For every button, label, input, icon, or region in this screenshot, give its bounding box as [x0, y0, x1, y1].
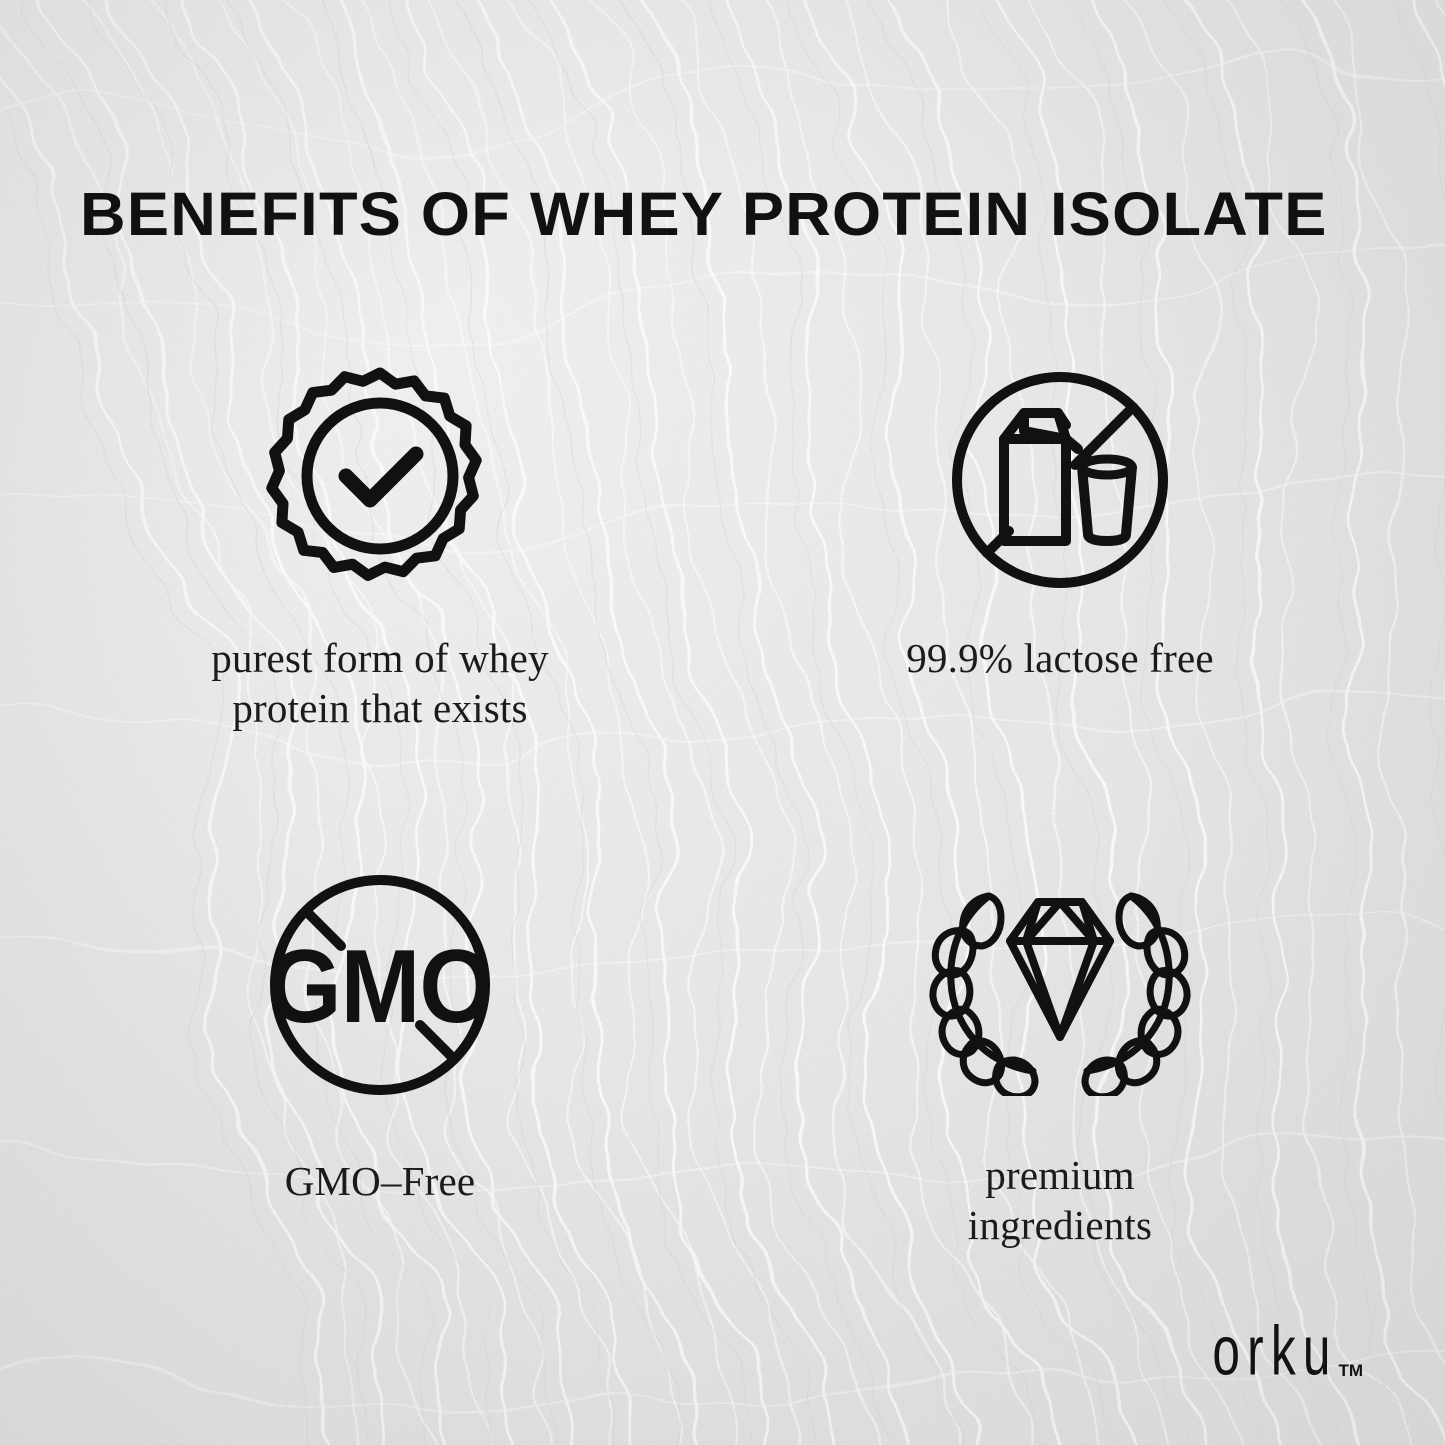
- check-badge-seal-icon: [140, 355, 620, 605]
- trademark-symbol: TM: [1338, 1361, 1363, 1381]
- gmo-icon-label: GMO: [267, 929, 493, 1045]
- benefit-caption: purest form of whey protein that exists: [140, 633, 620, 733]
- benefit-caption: 99.9% lactose free: [820, 633, 1300, 683]
- diamond-laurel-wreath-icon: [820, 860, 1300, 1110]
- page-title: BENEFITS OF WHEY PROTEIN ISOLATE: [80, 181, 1426, 247]
- benefit-caption: premium ingredients: [820, 1150, 1300, 1250]
- benefit-item-lactose-free: 99.9% lactose free: [820, 355, 1300, 683]
- brand-logo: orku TM: [1181, 1325, 1363, 1387]
- no-lactose-milk-carton-icon: [820, 355, 1300, 605]
- benefit-item-purest-form: purest form of whey protein that exists: [140, 355, 620, 733]
- infographic-canvas: BENEFITS OF WHEY PROTEIN ISOLATE purest …: [0, 0, 1445, 1445]
- brand-wordmark: orku: [1212, 1318, 1337, 1387]
- benefit-caption: GMO–Free: [140, 1156, 620, 1206]
- benefit-item-gmo-free: GMO GMO–Free: [140, 860, 620, 1206]
- benefit-item-premium-ingredients: premium ingredients: [820, 860, 1300, 1250]
- no-gmo-icon: GMO: [140, 860, 620, 1110]
